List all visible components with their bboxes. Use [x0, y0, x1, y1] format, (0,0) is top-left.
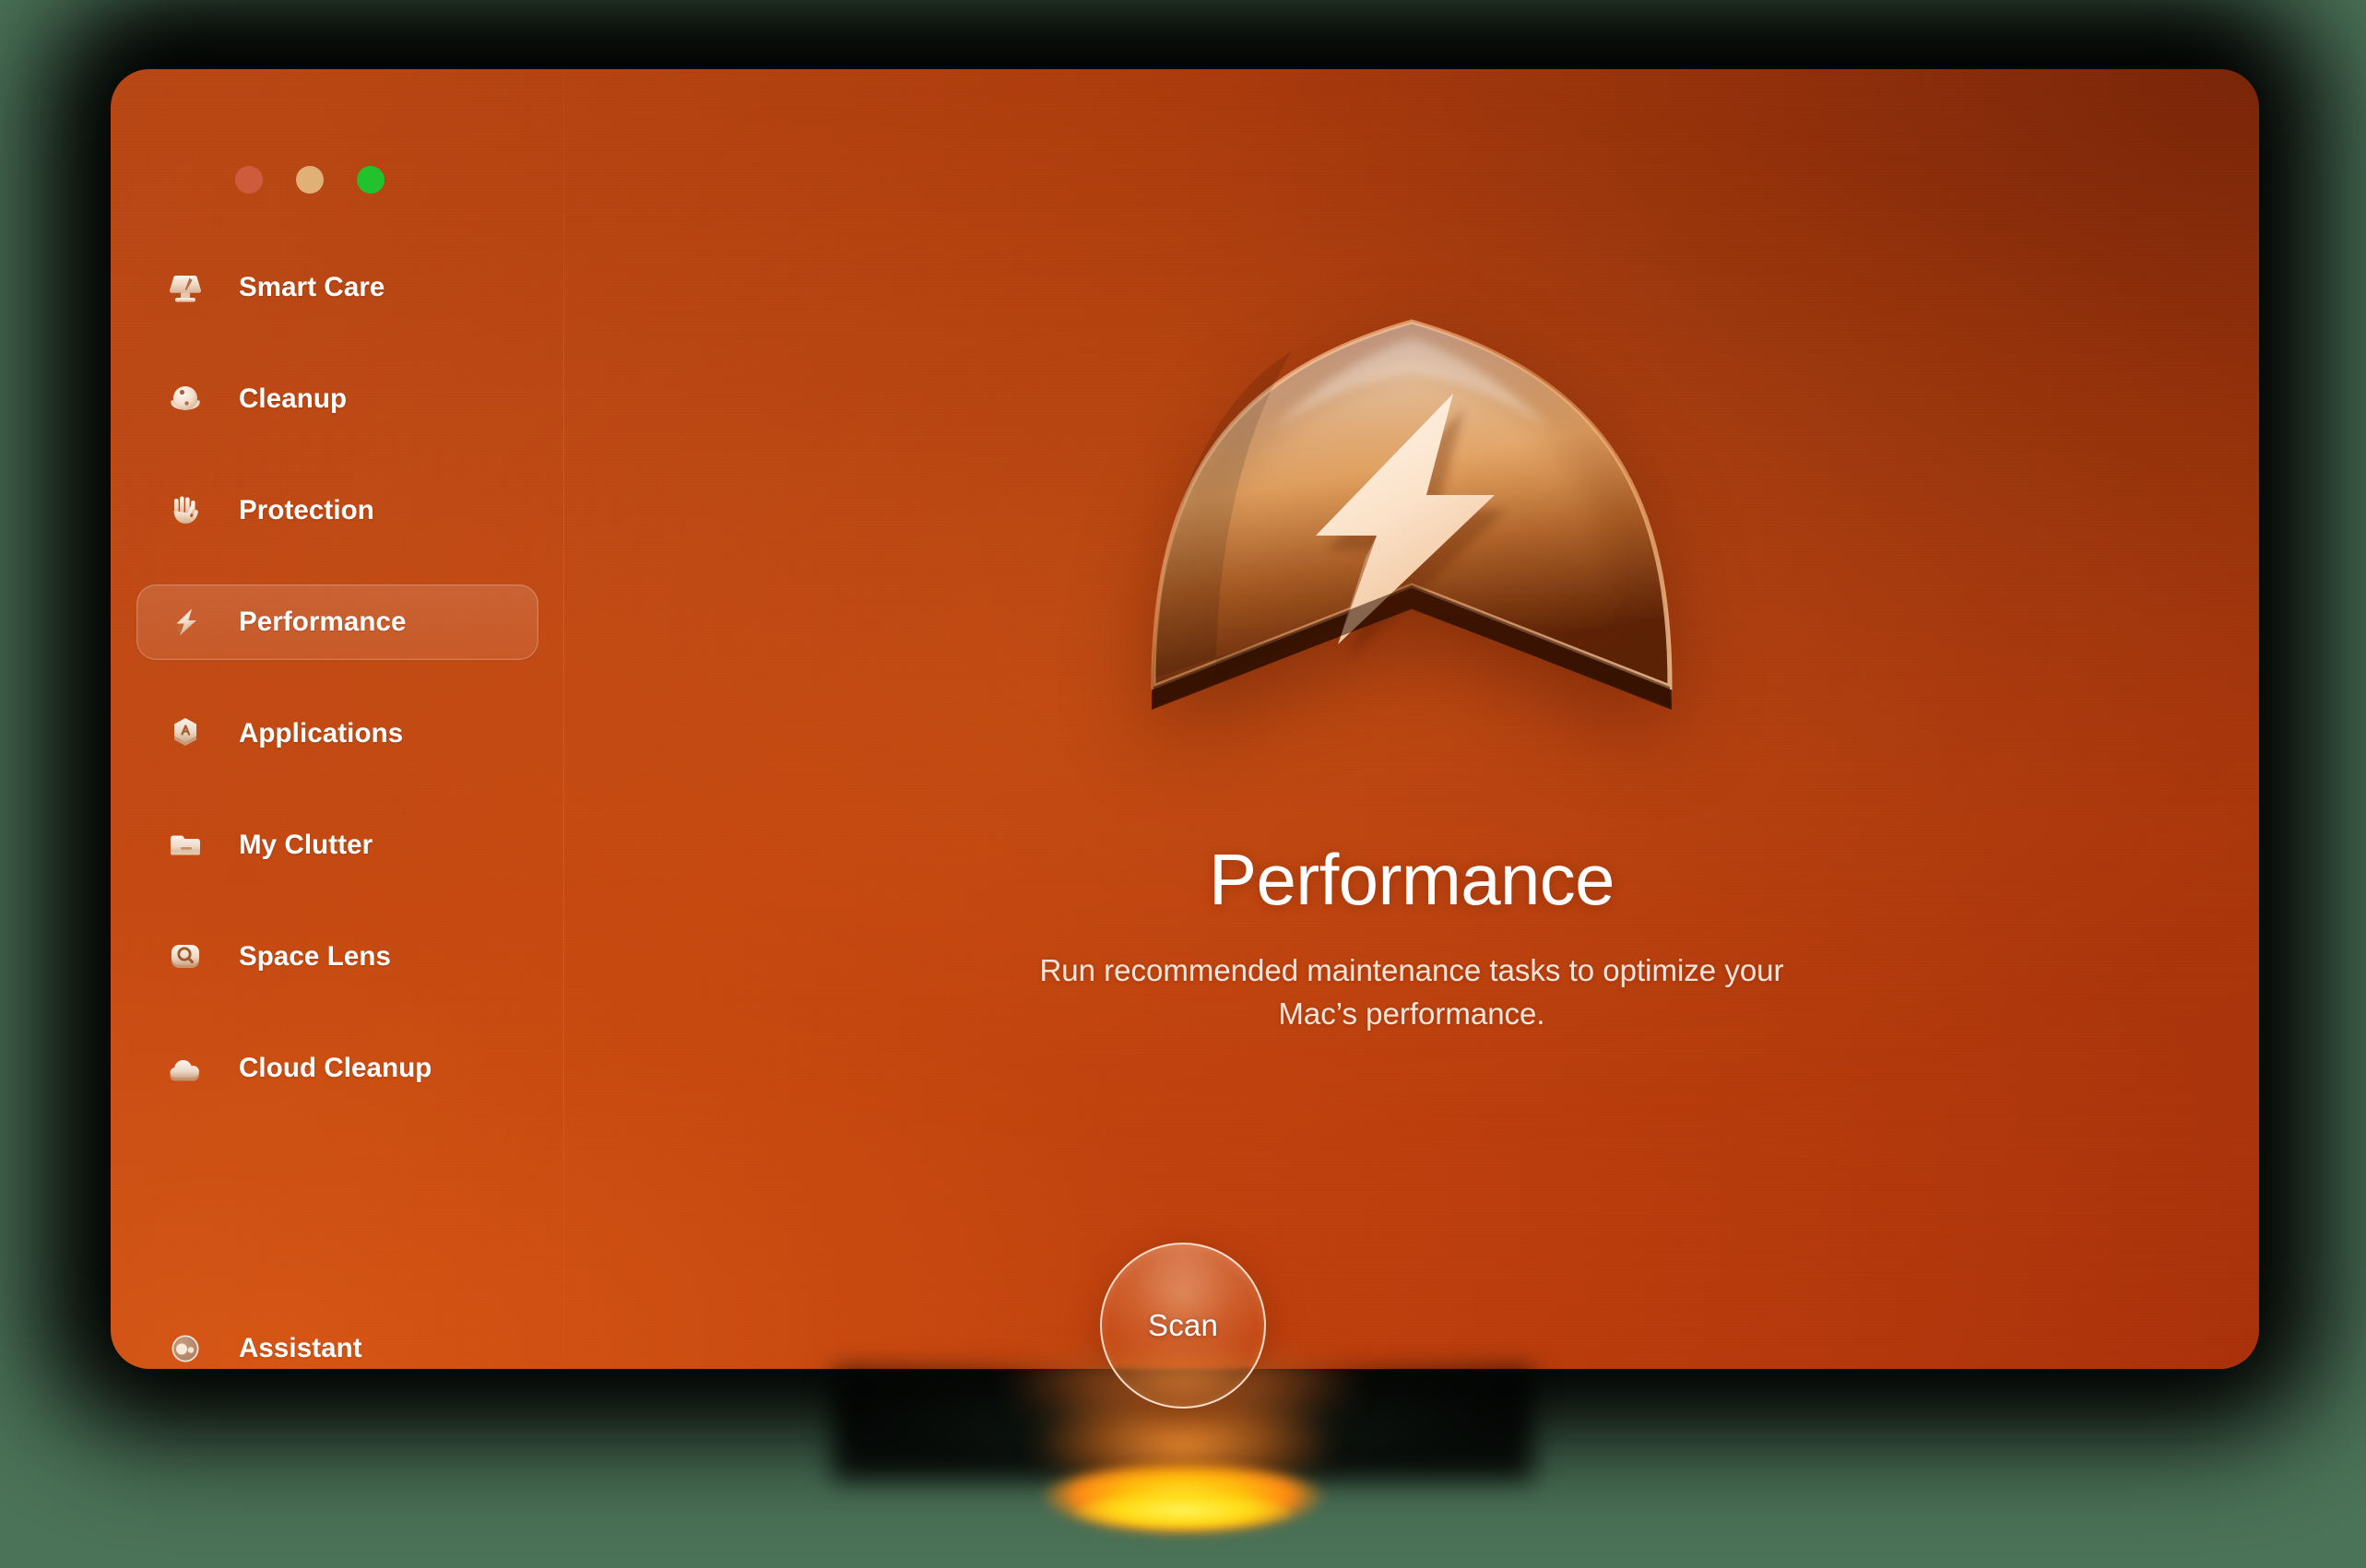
sidebar-item-label: Space Lens	[239, 941, 391, 973]
applications-icon	[161, 710, 209, 758]
smart-care-icon	[161, 264, 209, 312]
close-button[interactable]	[235, 166, 263, 194]
minimize-button[interactable]	[296, 166, 324, 194]
sidebar-item-applications[interactable]: Applications	[136, 696, 538, 772]
space-lens-icon	[161, 933, 209, 981]
scan-button-label: Scan	[1148, 1308, 1218, 1343]
sidebar-item-label: Protection	[239, 495, 374, 526]
glow-core	[1072, 1493, 1294, 1536]
sidebar-item-label: Assistant	[239, 1333, 362, 1364]
sidebar-item-cloud-cleanup[interactable]: Cloud Cleanup	[136, 1031, 538, 1106]
sidebar-item-my-clutter[interactable]: My Clutter	[136, 808, 538, 883]
app-window: Smart Care	[111, 69, 2259, 1369]
scan-button-wrapper: Scan	[1100, 1243, 1266, 1409]
page-title: Performance	[1209, 838, 1615, 922]
sidebar-divider	[563, 69, 564, 1369]
stage: Smart Care	[0, 0, 2366, 1568]
assistant-icon	[161, 1325, 209, 1369]
sidebar: Smart Care	[111, 69, 564, 1369]
my-clutter-folder-icon	[161, 821, 209, 869]
performance-bolt-icon	[161, 598, 209, 646]
sidebar-spacer	[111, 1106, 564, 1311]
sidebar-item-label: Applications	[239, 718, 403, 749]
performance-chevron-bolt-3d-icon	[1098, 290, 1725, 770]
glow-halo-inner	[1031, 1466, 1335, 1543]
sidebar-item-space-lens[interactable]: Space Lens	[136, 919, 538, 995]
maximize-button[interactable]	[357, 166, 384, 194]
page-subtitle: Run recommended maintenance tasks to opt…	[997, 949, 1827, 1036]
sidebar-item-label: Cleanup	[239, 383, 347, 415]
cleanup-icon	[161, 375, 209, 423]
sidebar-item-assistant[interactable]: Assistant	[136, 1311, 538, 1369]
sidebar-item-protection[interactable]: Protection	[136, 473, 538, 548]
sidebar-item-label: My Clutter	[239, 830, 373, 861]
sidebar-item-label: Cloud Cleanup	[239, 1053, 432, 1084]
main-content: Performance Run recommended maintenance …	[564, 69, 2259, 1369]
cloud-cleanup-icon	[161, 1044, 209, 1092]
sidebar-item-cleanup[interactable]: Cleanup	[136, 361, 538, 437]
protection-hand-icon	[161, 487, 209, 535]
sidebar-item-performance[interactable]: Performance	[136, 584, 538, 660]
sidebar-item-label: Performance	[239, 607, 406, 638]
scan-button[interactable]: Scan	[1100, 1243, 1266, 1409]
sidebar-item-label: Smart Care	[239, 272, 384, 303]
sidebar-item-smart-care[interactable]: Smart Care	[136, 250, 538, 325]
window-traffic-lights	[235, 166, 384, 194]
